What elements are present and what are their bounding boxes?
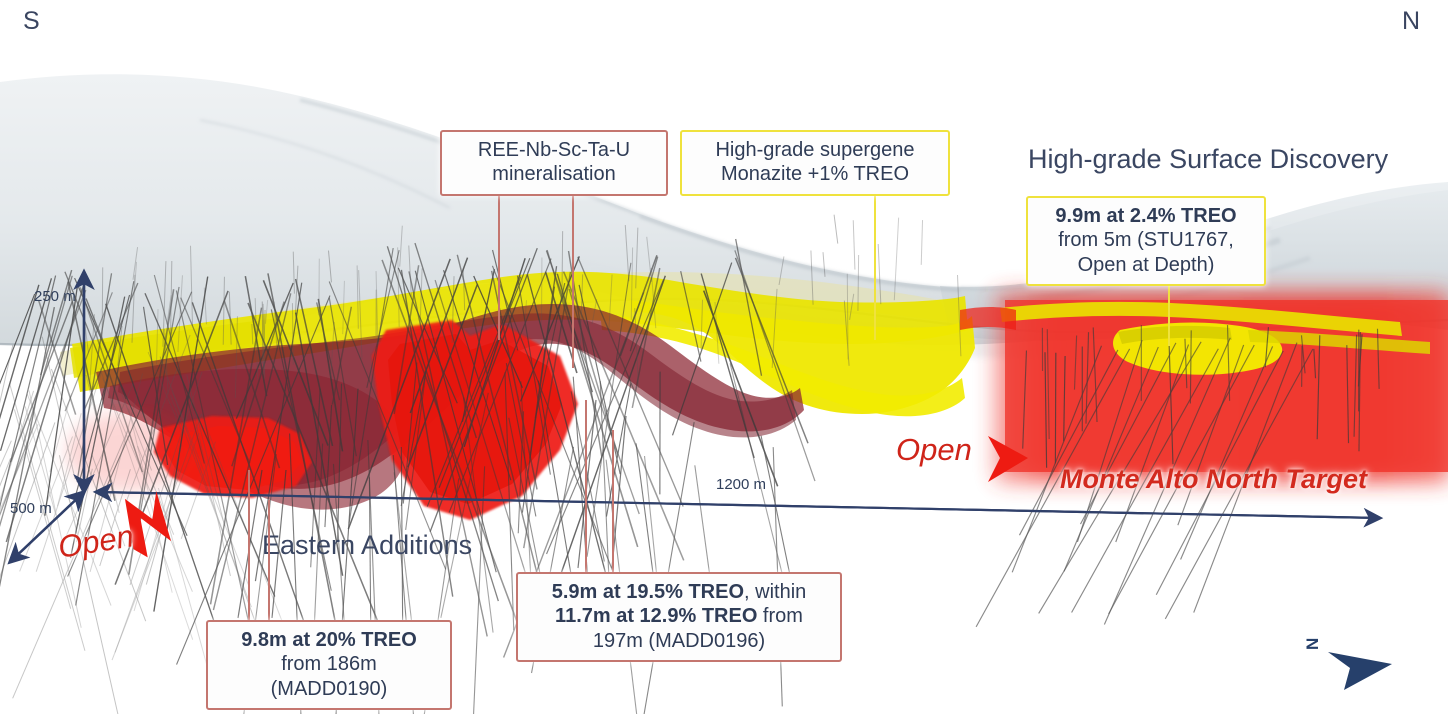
callout-mineralisation-line1: REE-Nb-Sc-Ta-U	[455, 138, 653, 162]
callout-madd0190-line1: 9.8m at 20% TREO	[221, 628, 437, 652]
callout-supergene-line1: High-grade supergene	[695, 138, 935, 162]
leader-mineralisation-b	[498, 190, 500, 340]
callout-madd0190-line3: (MADD0190)	[221, 677, 437, 701]
callout-mineralisation-line2: mineralisation	[455, 162, 653, 186]
cross-section-figure: S N N 250 m 500 m 1200 m High-grade Surf…	[0, 0, 1448, 714]
callout-madd0190-line2: from 186m	[221, 652, 437, 676]
callout-madd0190: 9.8m at 20% TREO from 186m (MADD0190)	[206, 620, 452, 710]
leader-mineralisation-a	[572, 190, 574, 368]
leader-madd0190-a	[248, 470, 250, 622]
callout-madd0196-line1-rest: , within	[744, 581, 806, 603]
callout-stu1767-line3: Open at Depth)	[1041, 253, 1251, 277]
callout-madd0196-line2-rest: from	[757, 605, 803, 627]
callout-stu1767-line2: from 5m (STU1767,	[1041, 228, 1251, 252]
callout-madd0196-line1-bold: 5.9m at 19.5% TREO	[552, 581, 744, 603]
callout-mineralisation: REE-Nb-Sc-Ta-U mineralisation	[440, 130, 668, 196]
callout-madd0196-line2: 11.7m at 12.9% TREO from	[531, 604, 827, 628]
scale-label-250m: 250 m	[34, 288, 76, 306]
callout-stu1767: 9.9m at 2.4% TREO from 5m (STU1767, Open…	[1026, 196, 1266, 286]
heading-eastern-additions: Eastern Additions	[262, 530, 472, 562]
scale-label-500m: 500 m	[10, 500, 52, 518]
leader-madd0196-b	[612, 430, 614, 572]
heading-surface-discovery: High-grade Surface Discovery	[1028, 144, 1388, 176]
callout-madd0196-line2-bold: 11.7m at 12.9% TREO	[555, 605, 757, 627]
north-arrow-label: N	[1303, 638, 1323, 650]
leader-supergene	[874, 190, 876, 340]
scale-label-1200m: 1200 m	[716, 476, 766, 494]
callout-madd0196-line1: 5.9m at 19.5% TREO, within	[531, 580, 827, 604]
compass-label-north: N	[1402, 7, 1420, 37]
leader-madd0190-b	[268, 500, 270, 622]
callout-supergene: High-grade supergene Monazite +1% TREO	[680, 130, 950, 196]
compass-label-south: S	[23, 7, 40, 37]
leader-madd0196-a	[585, 400, 587, 572]
callout-stu1767-line1: 9.9m at 2.4% TREO	[1041, 204, 1251, 228]
north-arrow-icon	[1328, 652, 1392, 690]
open-chevron-right	[988, 436, 1028, 482]
callout-madd0196: 5.9m at 19.5% TREO, within 11.7m at 12.9…	[516, 572, 842, 662]
callout-supergene-line2: Monazite +1% TREO	[695, 162, 935, 186]
heading-monte-alto-north-target: Monte Alto North Target	[1060, 464, 1367, 496]
callout-madd0196-line3: 197m (MADD0196)	[531, 629, 827, 653]
leader-stu1767	[1168, 278, 1170, 346]
open-marker-right: Open	[896, 432, 972, 469]
